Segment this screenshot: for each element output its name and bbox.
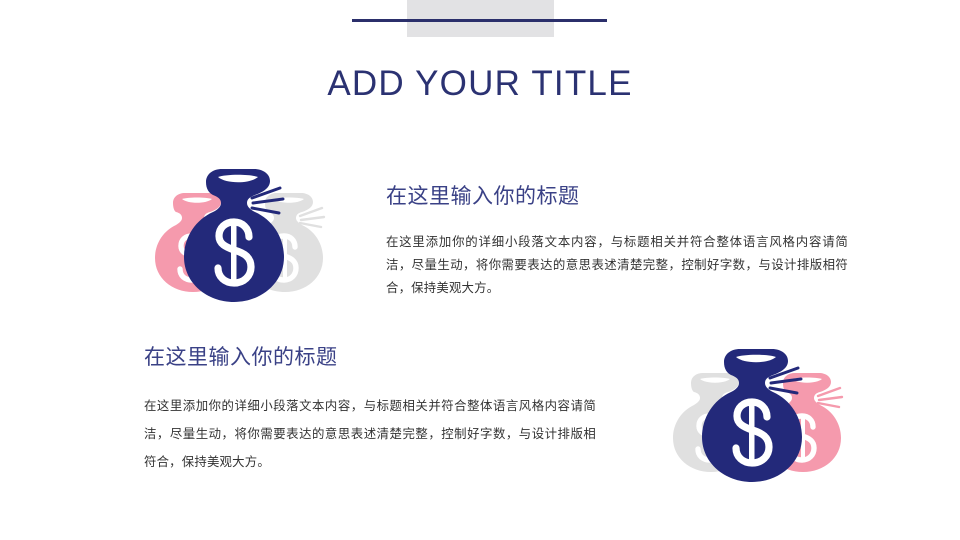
money-bag-group-icon-left	[130, 166, 338, 306]
block-body-top: 在这里添加你的详细小段落文本内容，与标题相关并符合整体语言风格内容请简洁，尽量生…	[386, 231, 848, 300]
page-title: ADD YOUR TITLE	[0, 62, 960, 106]
money-bag-navy-icon	[702, 349, 802, 482]
block-heading-top: 在这里输入你的标题	[386, 182, 580, 212]
money-bag-navy-icon	[184, 169, 284, 302]
slide-canvas: ADD YOUR TITLE	[0, 0, 960, 540]
block-body-bottom: 在这里添加你的详细小段落文本内容，与标题相关并符合整体语言风格内容请简洁，尽量生…	[144, 392, 596, 476]
money-bag-group-icon-right	[648, 346, 856, 486]
header-decoration-rule	[352, 19, 607, 22]
block-heading-bottom: 在这里输入你的标题	[144, 343, 338, 373]
